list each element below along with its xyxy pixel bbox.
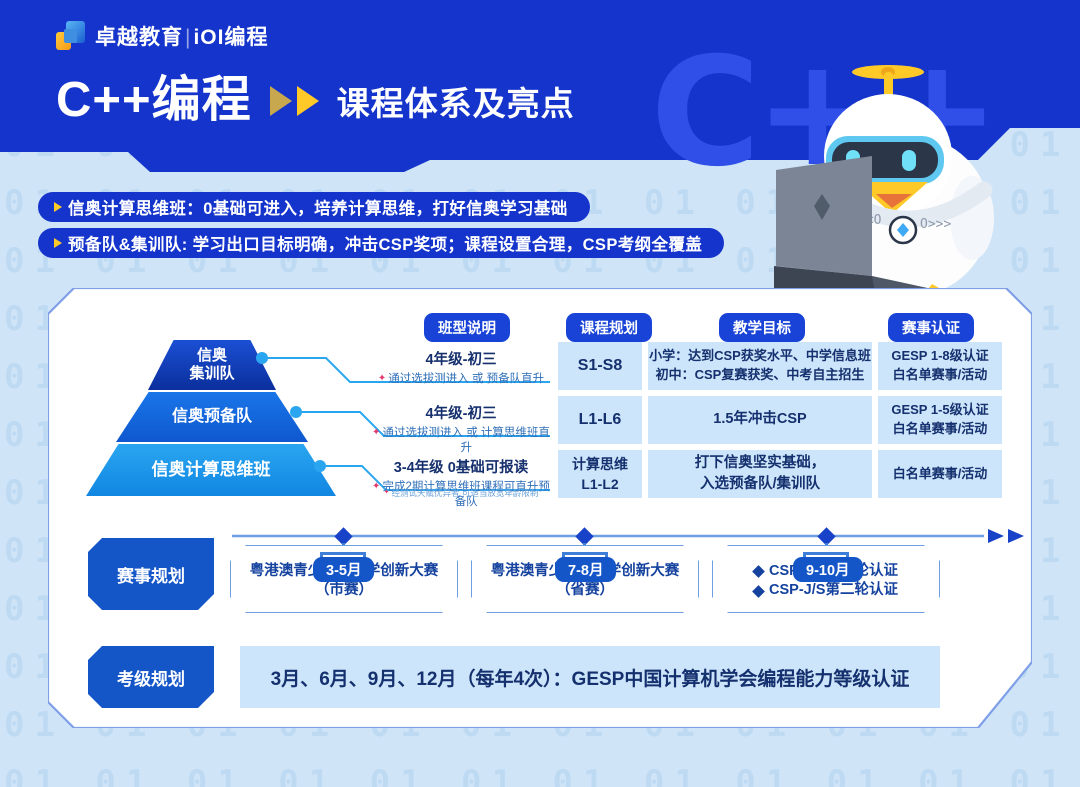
timeline-month-chip-3: 9-10月 xyxy=(793,557,863,582)
title-subtitle: 课程体系及亮点 xyxy=(337,77,575,125)
section-label-competition: 赛事规划 xyxy=(88,538,214,610)
class-desc-note-2: ✦ 通过选拔测进入 或 计算思维班直升 xyxy=(372,426,550,456)
timeline-card-1-line2: （市赛） xyxy=(250,581,439,601)
brand-logo[interactable]: 卓越教育|iOI编程 xyxy=(56,21,268,51)
stacked-blocks-logo-icon xyxy=(56,21,86,51)
teaching-goal-cell-2: 1.5年冲击CSP xyxy=(648,396,872,444)
competition-cert-cell-3: 白名单赛事/活动 xyxy=(878,450,1002,498)
class-desc-row-3: 3-4年级 0基础可报读 ✦ 完成2期计算思维班课程可直升预备队 xyxy=(372,456,550,510)
title-main: C++编程 xyxy=(56,76,252,125)
teaching-goal-cell-3-line1: 打下信奥坚实基础， xyxy=(695,455,826,471)
teaching-goal-cell-1: 小学：达到CSP获奖水平、中学信息班初中：CSP复赛获奖、中考自主招生 xyxy=(648,342,872,390)
competition-cert-cell-1-line2: 白名单赛事/活动 xyxy=(893,367,988,382)
teaching-goal-cell-1-line2: 初中：CSP复赛获奖、中考自主招生 xyxy=(656,367,865,382)
infographic-poster: 01 01 01 01 01 01 01 01 01 01 01 01 01 0… xyxy=(0,0,1080,787)
timeline-month-chip-2: 7-8月 xyxy=(555,557,616,582)
double-triangle-right-icon xyxy=(270,86,319,116)
class-desc-footnote-text: 经测试天赋优异者,可适当放宽年龄限制 xyxy=(392,487,539,499)
star-icon: ✦ xyxy=(378,374,386,384)
pyramid-tier-top-line2: 集训队 xyxy=(189,365,234,382)
competition-cert-cell-1-line1: GESP 1-8级认证 xyxy=(891,348,988,363)
diamond-bullet-icon xyxy=(752,585,765,598)
triangle-right-icon xyxy=(54,202,62,212)
competition-cert-cell-1: GESP 1-8级认证白名单赛事/活动 xyxy=(878,342,1002,390)
class-desc-row-2: 4年级-初三 ✦ 通过选拔测进入 或 计算思维班直升 xyxy=(372,402,550,456)
course-plan-cell-1: S1-S8 xyxy=(558,342,642,390)
class-desc-row-1: 4年级-初三 ✦ 通过选拔测进入 或 预备队直升 xyxy=(372,348,550,387)
page-title: C++编程 课程体系及亮点 xyxy=(56,76,575,125)
teaching-goal-cell-1-line1: 小学：达到CSP获奖水平、中学信息班 xyxy=(649,348,871,363)
column-header-competition-cert: 赛事认证 xyxy=(888,313,974,342)
propeller-hat-icon xyxy=(852,65,924,98)
class-desc-grade-2: 4年级-初三 xyxy=(372,402,550,423)
competition-cert-cell-2: GESP 1-5级认证白名单赛事/活动 xyxy=(878,396,1002,444)
column-header-class-desc: 班型说明 xyxy=(424,313,510,342)
section-label-exam: 考级规划 xyxy=(88,646,214,708)
banner-item-2-label: 预备队&集训队: 学习出口目标明确，冲击CSP奖项；课程设置合理，CSP考纲全覆… xyxy=(68,231,702,255)
brand-separator: | xyxy=(185,26,191,49)
class-desc-note-1: ✦ 通过选拔测进入 或 预备队直升 xyxy=(372,372,550,387)
competition-cert-cell-2-line1: GESP 1-5级认证 xyxy=(891,402,988,417)
diamond-bullet-icon xyxy=(752,565,765,578)
timeline-card-3-bullet-2: CSP-J/S第二轮认证 xyxy=(754,581,898,601)
star-icon: ✦ xyxy=(372,428,380,438)
column-header-course-plan: 课程规划 xyxy=(566,313,652,342)
teaching-goal-cell-3-line2: 入选预备队/集训队 xyxy=(700,476,820,492)
banner-item-1: 信奥计算思维班：0基础可进入，培养计算思维，打好信奥学习基础 xyxy=(38,192,590,222)
class-desc-note-2-text: 通过选拔测进入 或 计算思维班直升 xyxy=(382,426,550,456)
brand-name-secondary: iOI编程 xyxy=(193,26,268,49)
banner-item-2: 预备队&集训队: 学习出口目标明确，冲击CSP奖项；课程设置合理，CSP考纲全覆… xyxy=(38,228,724,258)
banner-item-1-label: 信奥计算思维班：0基础可进入，培养计算思维，打好信奥学习基础 xyxy=(68,195,568,219)
star-icon: ✦ xyxy=(384,489,390,496)
class-desc-note-1-text: 通过选拔测进入 或 预备队直升 xyxy=(388,372,544,387)
triangle-right-icon xyxy=(54,238,62,248)
class-desc-grade-3: 3-4年级 0基础可报读 xyxy=(372,456,550,477)
timeline-month-chip-1: 3-5月 xyxy=(313,557,374,582)
course-plan-cell-2: L1-L6 xyxy=(558,396,642,444)
exam-planning-text: 3月、6月、9月、12月（每年4次）：GESP中国计算机学会编程能力等级认证 xyxy=(240,646,940,708)
column-header-teaching-goal: 教学目标 xyxy=(719,313,805,342)
course-plan-cell-3-line2: L1-L2 xyxy=(581,476,618,492)
svg-text:O>>>: O>>> xyxy=(920,217,951,232)
competition-cert-cell-2-line2: 白名单赛事/活动 xyxy=(893,421,988,436)
brand-name: 卓越教育|iOI编程 xyxy=(95,21,268,51)
course-plan-cell-3: 计算思维L1-L2 xyxy=(558,450,642,498)
brand-name-primary: 卓越教育 xyxy=(95,26,183,49)
teaching-goal-cell-3: 打下信奥坚实基础，入选预备队/集训队 xyxy=(648,450,872,498)
pyramid-tier-top-line1: 信奥 xyxy=(197,347,227,364)
class-desc-grade-1: 4年级-初三 xyxy=(372,348,550,369)
class-desc-footnote: ✦ 经测试天赋优异者,可适当放宽年龄限制 xyxy=(372,487,550,499)
timeline-card-2-line2: （省赛） xyxy=(491,581,680,601)
timeline-card-3-bullet-2-label: CSP-J/S第二轮认证 xyxy=(769,581,898,601)
course-plan-cell-3-line1: 计算思维 xyxy=(572,456,628,472)
